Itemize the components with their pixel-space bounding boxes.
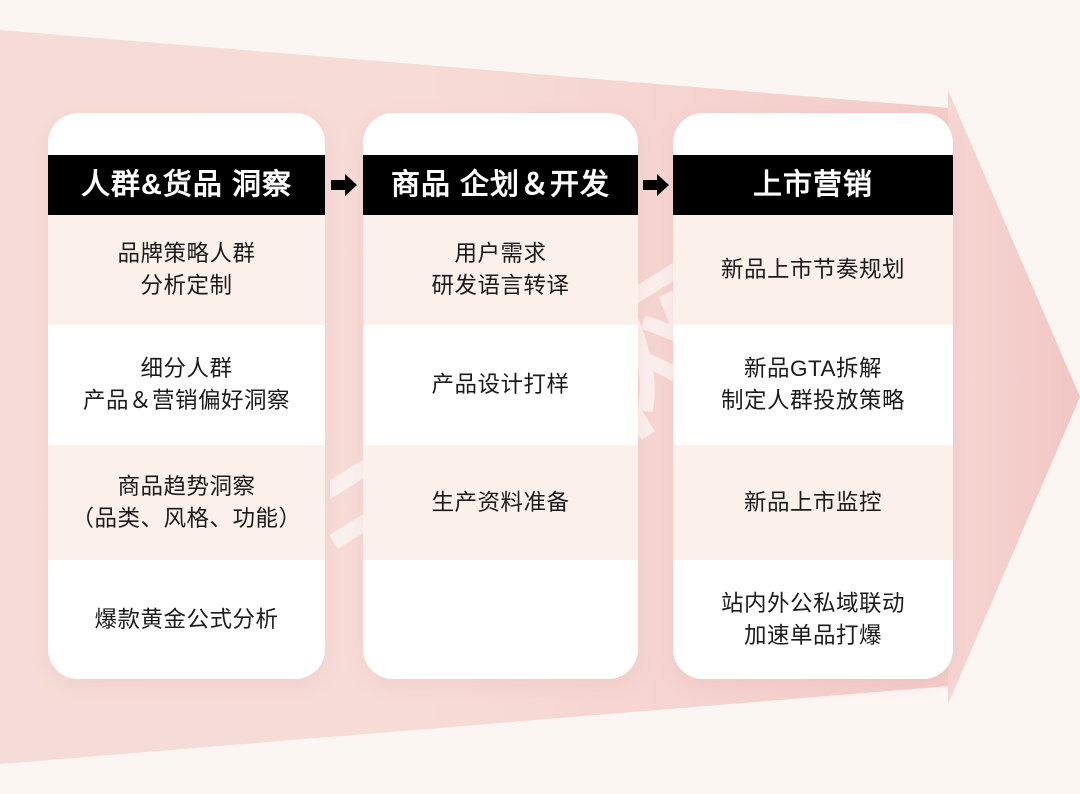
stage-1-row-4[interactable]: 爆款黄金公式分析 xyxy=(48,560,325,679)
stage-1-row-1[interactable]: 品牌策略人群 分析定制 xyxy=(48,215,325,325)
stage-1-header: 人群&货品 洞察 xyxy=(48,155,325,215)
stage-2-title: 商品 企划＆开发 xyxy=(391,171,610,200)
stage-2-row-2-text: 产品设计打样 xyxy=(431,369,569,401)
stage-3-row-4-text: 站内外公私域联动 加速单品打爆 xyxy=(721,588,905,652)
stage-3-rows: 新品上市节奏规划 新品GTA拆解 制定人群投放策略 新品上市监控 站内外公私域联… xyxy=(673,215,953,679)
stage-3-row-1-text: 新品上市节奏规划 xyxy=(721,254,905,286)
stage-1-title: 人群&货品 洞察 xyxy=(81,171,292,200)
arrow-right-icon-2 xyxy=(641,170,671,200)
stage-3-row-1[interactable]: 新品上市节奏规划 xyxy=(673,215,953,325)
stage-2-row-3[interactable]: 生产资料准备 xyxy=(363,445,638,560)
infographic-canvas: 天下网商 人群&货品 洞察 品牌策略人群 分析定制 细分人群 产品＆营销偏好洞察… xyxy=(0,0,1080,794)
stage-2-header: 商品 企划＆开发 xyxy=(363,155,638,215)
stage-2-rows: 用户需求 研发语言转译 产品设计打样 生产资料准备 xyxy=(363,215,638,679)
stage-1-row-1-text: 品牌策略人群 分析定制 xyxy=(117,238,255,302)
stage-3-row-3-text: 新品上市监控 xyxy=(744,487,882,519)
stage-3-row-2-text: 新品GTA拆解 制定人群投放策略 xyxy=(721,353,905,417)
stage-3-header: 上市营销 xyxy=(673,155,953,215)
stage-2-row-4[interactable] xyxy=(363,560,638,679)
stage-1-row-2-text: 细分人群 产品＆营销偏好洞察 xyxy=(83,353,290,417)
stage-card-1[interactable]: 人群&货品 洞察 品牌策略人群 分析定制 细分人群 产品＆营销偏好洞察 商品趋势… xyxy=(48,113,325,679)
stage-card-3[interactable]: 上市营销 新品上市节奏规划 新品GTA拆解 制定人群投放策略 新品上市监控 站内… xyxy=(673,113,953,679)
stage-1-row-2[interactable]: 细分人群 产品＆营销偏好洞察 xyxy=(48,325,325,445)
stage-2-row-2[interactable]: 产品设计打样 xyxy=(363,325,638,445)
stage-2-row-3-text: 生产资料准备 xyxy=(431,487,569,519)
stage-2-row-1[interactable]: 用户需求 研发语言转译 xyxy=(363,215,638,325)
stage-3-row-2[interactable]: 新品GTA拆解 制定人群投放策略 xyxy=(673,325,953,445)
stage-card-2[interactable]: 商品 企划＆开发 用户需求 研发语言转译 产品设计打样 生产资料准备 xyxy=(363,113,638,679)
arrow-right-icon-1 xyxy=(329,170,359,200)
stage-2-row-1-text: 用户需求 研发语言转译 xyxy=(431,238,569,302)
stage-1-row-3[interactable]: 商品趋势洞察 （品类、风格、功能） xyxy=(48,445,325,560)
stage-1-row-4-text: 爆款黄金公式分析 xyxy=(94,604,278,636)
stage-3-title: 上市营销 xyxy=(753,171,873,200)
stage-1-rows: 品牌策略人群 分析定制 细分人群 产品＆营销偏好洞察 商品趋势洞察 （品类、风格… xyxy=(48,215,325,679)
stage-3-row-3[interactable]: 新品上市监控 xyxy=(673,445,953,560)
stage-1-row-3-text: 商品趋势洞察 （品类、风格、功能） xyxy=(71,471,301,535)
stage-3-row-4[interactable]: 站内外公私域联动 加速单品打爆 xyxy=(673,560,953,679)
